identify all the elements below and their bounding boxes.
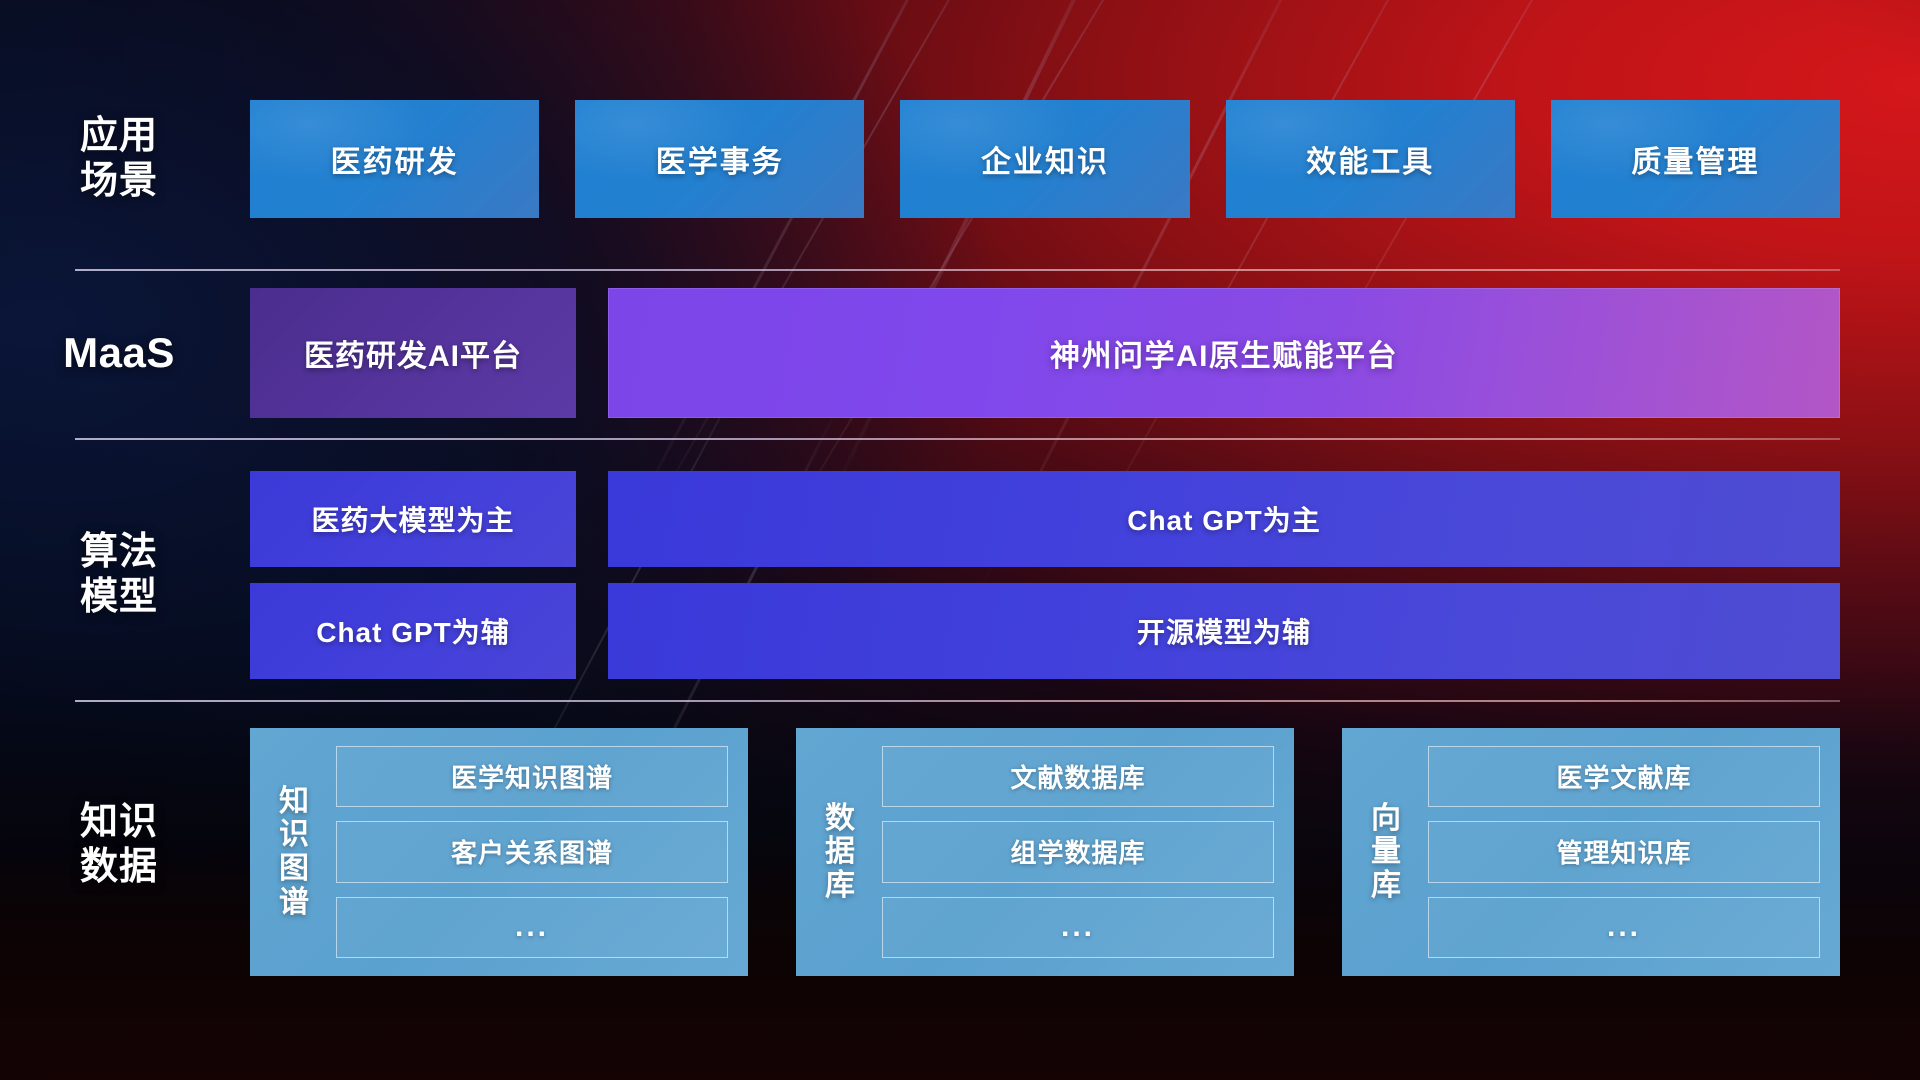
app-box-quality-management[interactable]: 质量管理 — [1551, 100, 1840, 218]
row-label-line-1: 算法 — [0, 530, 238, 575]
row-body-maas: 医药研发AI平台 神州问学AI原生赋能平台 — [250, 288, 1920, 418]
application-box-list: 医药研发 医学事务 企业知识 效能工具 质量管理 — [250, 100, 1840, 218]
divider-1 — [75, 269, 1840, 271]
row-body-knowledge-data: 知识图谱 医学知识图谱 客户关系图谱 ... 数据库 文献数据库 组学数据库 .… — [250, 728, 1920, 976]
knowledge-item-more-3[interactable]: ... — [1428, 897, 1820, 958]
knowledge-item-medical-knowledge-graph[interactable]: 医学知识图谱 — [336, 746, 728, 807]
knowledge-group-knowledge-graph[interactable]: 知识图谱 医学知识图谱 客户关系图谱 ... — [250, 728, 748, 976]
maas-box-drug-rd-ai-platform[interactable]: 医药研发AI平台 — [250, 288, 576, 418]
app-box-efficiency-tools[interactable]: 效能工具 — [1226, 100, 1515, 218]
algo-box-chatgpt-secondary[interactable]: Chat GPT为辅 — [250, 583, 576, 679]
knowledge-group-label-database: 数据库 — [814, 746, 866, 958]
row-label-algorithm-models: 算法 模型 — [0, 530, 250, 620]
app-box-medical-affairs[interactable]: 医学事务 — [575, 100, 864, 218]
diagram-content: 应用 场景 医药研发 医学事务 企业知识 效能工具 质量管理 MaaS 医药研发… — [0, 0, 1920, 1080]
row-body-algorithm-models: 医药大模型为主 Chat GPT为主 Chat GPT为辅 开源模型为辅 — [250, 471, 1920, 679]
knowledge-group-label-knowledge-graph: 知识图谱 — [268, 746, 320, 958]
algo-box-chatgpt-primary[interactable]: Chat GPT为主 — [608, 471, 1840, 567]
knowledge-group-label-vector-store: 向量库 — [1360, 746, 1412, 958]
knowledge-item-customer-relation-graph[interactable]: 客户关系图谱 — [336, 821, 728, 882]
maas-box-shenzhou-wenxue-platform[interactable]: 神州问学AI原生赋能平台 — [608, 288, 1840, 418]
knowledge-group-database[interactable]: 数据库 文献数据库 组学数据库 ... — [796, 728, 1294, 976]
row-label-knowledge-data: 知识 数据 — [0, 728, 250, 890]
row-label-line-1: 应用 — [0, 114, 238, 159]
algorithm-line-secondary: Chat GPT为辅 开源模型为辅 — [250, 583, 1840, 679]
knowledge-item-list: 医学知识图谱 客户关系图谱 ... — [336, 746, 728, 958]
row-label-line-2: 数据 — [0, 845, 238, 890]
knowledge-item-omics-database[interactable]: 组学数据库 — [882, 821, 1274, 882]
row-label-line-2: 场景 — [0, 159, 238, 204]
app-box-enterprise-knowledge[interactable]: 企业知识 — [900, 100, 1189, 218]
knowledge-item-more-2[interactable]: ... — [882, 897, 1274, 958]
knowledge-group-vector-store[interactable]: 向量库 医学文献库 管理知识库 ... — [1342, 728, 1840, 976]
row-label-application-scenarios: 应用 场景 — [0, 114, 250, 204]
divider-3 — [75, 700, 1840, 702]
row-maas: MaaS 医药研发AI平台 神州问学AI原生赋能平台 — [0, 288, 1920, 418]
row-label-maas: MaaS — [0, 328, 250, 378]
diagram-stage: 应用 场景 医药研发 医学事务 企业知识 效能工具 质量管理 MaaS 医药研发… — [0, 0, 1920, 1080]
knowledge-item-management-knowledge-store[interactable]: 管理知识库 — [1428, 821, 1820, 882]
divider-2 — [75, 438, 1840, 440]
knowledge-group-list: 知识图谱 医学知识图谱 客户关系图谱 ... 数据库 文献数据库 组学数据库 .… — [250, 728, 1840, 976]
algo-box-medical-llm-primary[interactable]: 医药大模型为主 — [250, 471, 576, 567]
knowledge-item-literature-database[interactable]: 文献数据库 — [882, 746, 1274, 807]
algo-box-opensource-secondary[interactable]: 开源模型为辅 — [608, 583, 1840, 679]
app-box-drug-rd[interactable]: 医药研发 — [250, 100, 539, 218]
maas-box-list: 医药研发AI平台 神州问学AI原生赋能平台 — [250, 288, 1840, 418]
row-label-line-1: 知识 — [0, 800, 238, 845]
row-body-application-scenarios: 医药研发 医学事务 企业知识 效能工具 质量管理 — [250, 100, 1920, 218]
row-application-scenarios: 应用 场景 医药研发 医学事务 企业知识 效能工具 质量管理 — [0, 100, 1920, 218]
knowledge-item-medical-literature-store[interactable]: 医学文献库 — [1428, 746, 1820, 807]
knowledge-item-list: 文献数据库 组学数据库 ... — [882, 746, 1274, 958]
algorithm-grid: 医药大模型为主 Chat GPT为主 Chat GPT为辅 开源模型为辅 — [250, 471, 1840, 679]
knowledge-item-more-1[interactable]: ... — [336, 897, 728, 958]
row-knowledge-data: 知识 数据 知识图谱 医学知识图谱 客户关系图谱 ... 数据库 — [0, 728, 1920, 976]
row-label-line-2: 模型 — [0, 575, 238, 620]
algorithm-line-primary: 医药大模型为主 Chat GPT为主 — [250, 471, 1840, 567]
knowledge-item-list: 医学文献库 管理知识库 ... — [1428, 746, 1820, 958]
row-algorithm-models: 算法 模型 医药大模型为主 Chat GPT为主 Chat GPT为辅 开源模型… — [0, 460, 1920, 690]
